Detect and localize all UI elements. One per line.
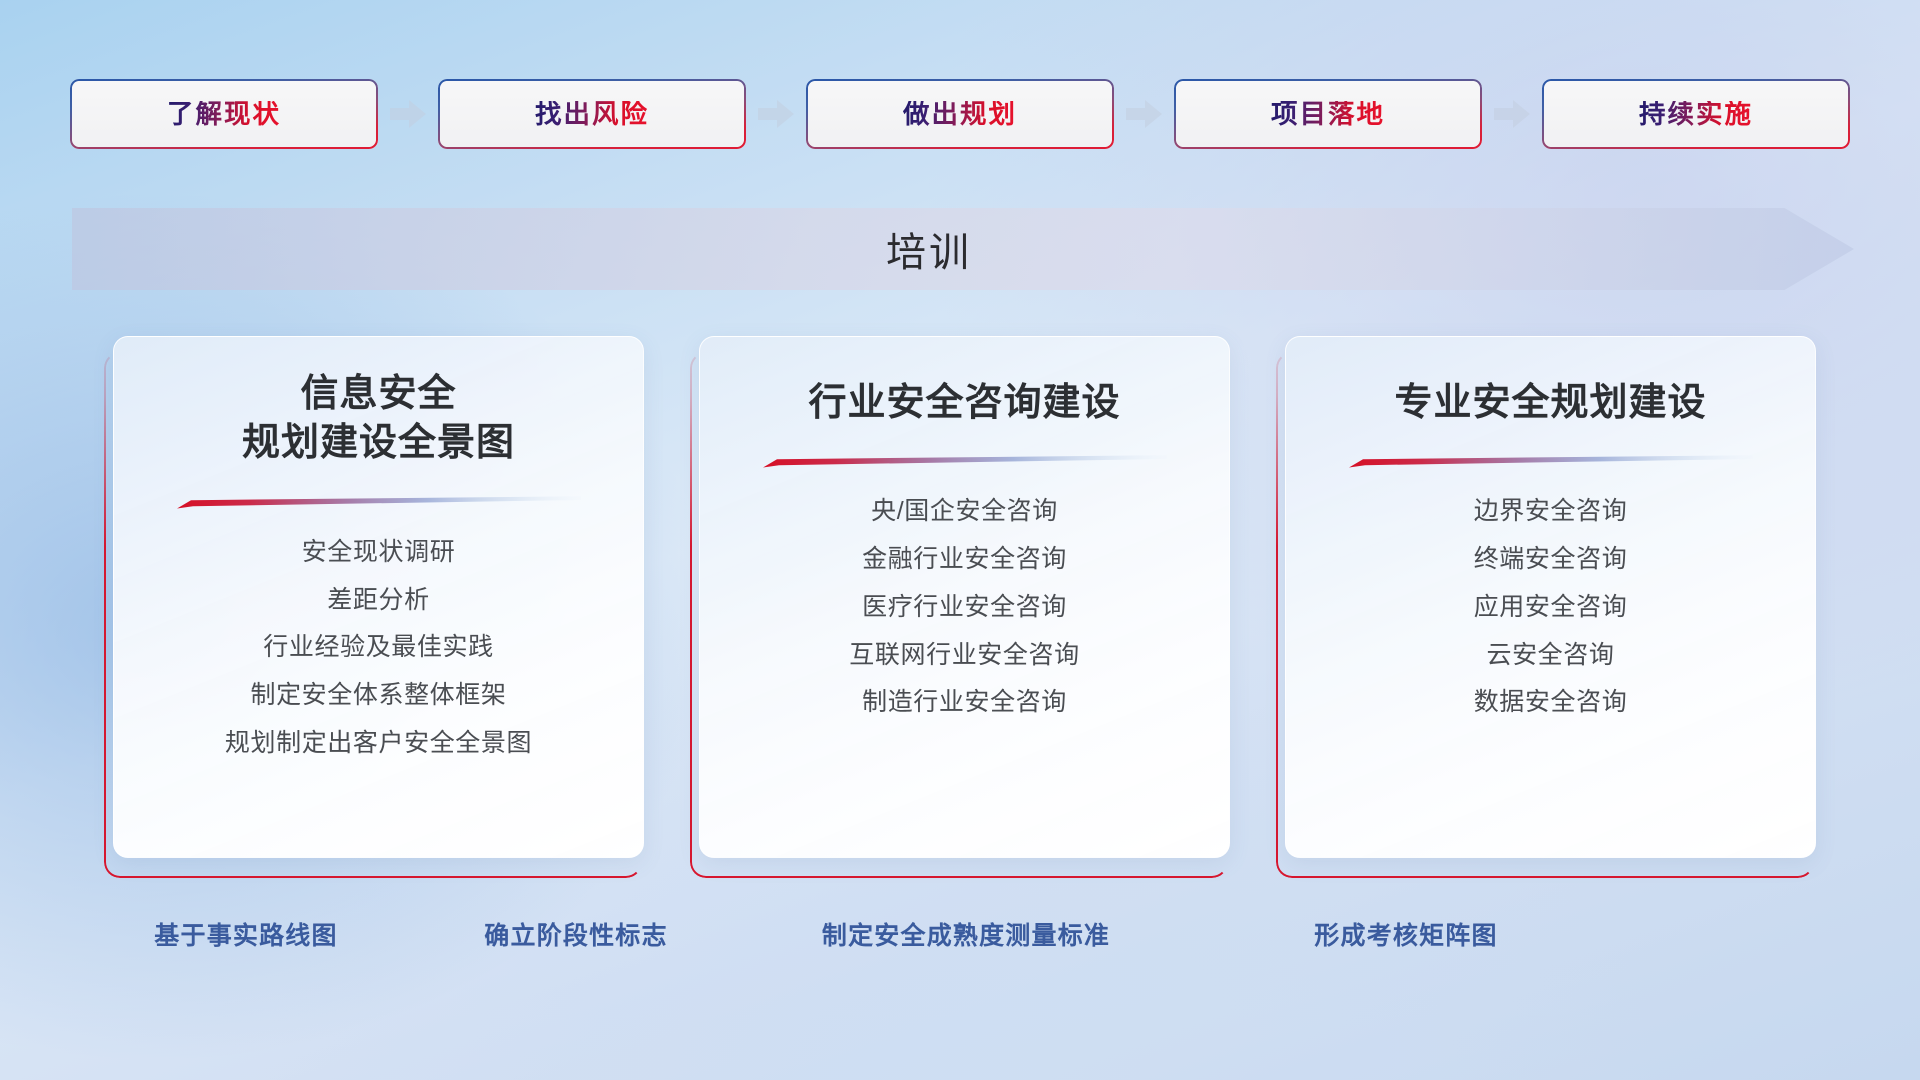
process-step-label: 找出风险: [535, 101, 649, 128]
card-list-item[interactable]: 终端安全咨询: [1474, 540, 1628, 579]
process-step-surface: 做出规划: [808, 81, 1113, 148]
card-divider-accent: [177, 495, 581, 511]
card-list-item[interactable]: 数据安全咨询: [1474, 683, 1628, 722]
process-step-2[interactable]: 找出风险: [438, 79, 746, 149]
service-card-2[interactable]: 行业安全咨询建设央/国企安全咨询金融行业安全咨询医疗行业安全咨询互联网行业安全咨…: [690, 336, 1230, 878]
service-card-3[interactable]: 专业安全规划建设边界安全咨询终端安全咨询应用安全咨询云安全咨询数据安全咨询: [1276, 336, 1816, 878]
card-list-item[interactable]: 安全现状调研: [302, 533, 456, 572]
process-step-surface: 了解现状: [72, 81, 377, 148]
process-steps: 了解现状找出风险做出规划项目落地持续实施: [70, 78, 1850, 150]
footer-label-2: 确立阶段性标志: [484, 916, 667, 952]
card-surface: 专业安全规划建设边界安全咨询终端安全咨询应用安全咨询云安全咨询数据安全咨询: [1285, 336, 1816, 858]
card-item-list: 央/国企安全咨询金融行业安全咨询医疗行业安全咨询互联网行业安全咨询制造行业安全咨…: [700, 492, 1229, 722]
card-list-item[interactable]: 制造行业安全咨询: [862, 683, 1067, 722]
card-list-item[interactable]: 行业经验及最佳实践: [263, 628, 493, 667]
card-list-item[interactable]: 应用安全咨询: [1474, 588, 1628, 627]
card-item-list: 安全现状调研差距分析行业经验及最佳实践制定安全体系整体框架规划制定出客户安全全景…: [114, 533, 643, 763]
card-title: 信息安全 规划建设全景图: [114, 370, 643, 469]
card-list-item[interactable]: 互联网行业安全咨询: [849, 636, 1079, 675]
card-title: 行业安全咨询建设: [700, 379, 1229, 428]
process-step-surface: 项目落地: [1176, 81, 1481, 148]
footer-labels: 基于事实路线图确立阶段性标志制定安全成熟度测量标准形成考核矩阵图: [0, 916, 1920, 972]
arrow-right-icon: [756, 97, 796, 131]
card-list-item[interactable]: 云安全咨询: [1486, 636, 1614, 675]
footer-label-1: 基于事实路线图: [154, 916, 337, 952]
process-step-label: 持续实施: [1639, 101, 1753, 128]
footer-label-4: 形成考核矩阵图: [1314, 916, 1497, 952]
footer-label-3: 制定安全成熟度测量标准: [822, 916, 1110, 952]
card-title: 专业安全规划建设: [1286, 379, 1815, 428]
card-item-list: 边界安全咨询终端安全咨询应用安全咨询云安全咨询数据安全咨询: [1286, 492, 1815, 722]
service-cards: 信息安全 规划建设全景图安全现状调研差距分析行业经验及最佳实践制定安全体系整体框…: [104, 336, 1816, 878]
card-list-item[interactable]: 差距分析: [327, 581, 429, 620]
card-divider-accent: [763, 454, 1167, 470]
process-step-label: 做出规划: [903, 101, 1017, 128]
card-list-item[interactable]: 医疗行业安全咨询: [862, 588, 1067, 627]
process-step-3[interactable]: 做出规划: [806, 79, 1114, 149]
process-step-surface: 持续实施: [1544, 81, 1849, 148]
slide-canvas: 了解现状找出风险做出规划项目落地持续实施 培训 信息安全 规划建设全景图安全现状…: [0, 0, 1920, 1080]
card-surface: 信息安全 规划建设全景图安全现状调研差距分析行业经验及最佳实践制定安全体系整体框…: [113, 336, 644, 858]
card-list-item[interactable]: 制定安全体系整体框架: [250, 676, 506, 715]
card-list-item[interactable]: 金融行业安全咨询: [862, 540, 1067, 579]
process-step-label: 项目落地: [1271, 101, 1385, 128]
service-card-1[interactable]: 信息安全 规划建设全景图安全现状调研差距分析行业经验及最佳实践制定安全体系整体框…: [104, 336, 644, 878]
process-step-surface: 找出风险: [440, 81, 745, 148]
card-list-item[interactable]: 边界安全咨询: [1474, 492, 1628, 531]
card-list-item[interactable]: 规划制定出客户安全全景图: [225, 724, 532, 763]
training-banner: 培训: [72, 208, 1854, 290]
card-divider-accent: [1349, 454, 1753, 470]
arrow-right-icon: [388, 97, 428, 131]
process-step-label: 了解现状: [167, 101, 281, 128]
banner-label: 培训: [72, 208, 1854, 290]
card-list-item[interactable]: 央/国企安全咨询: [871, 492, 1058, 531]
card-surface: 行业安全咨询建设央/国企安全咨询金融行业安全咨询医疗行业安全咨询互联网行业安全咨…: [699, 336, 1230, 858]
arrow-right-icon: [1124, 97, 1164, 131]
process-step-5[interactable]: 持续实施: [1542, 79, 1850, 149]
process-step-1[interactable]: 了解现状: [70, 79, 378, 149]
arrow-right-icon: [1492, 97, 1532, 131]
process-step-4[interactable]: 项目落地: [1174, 79, 1482, 149]
